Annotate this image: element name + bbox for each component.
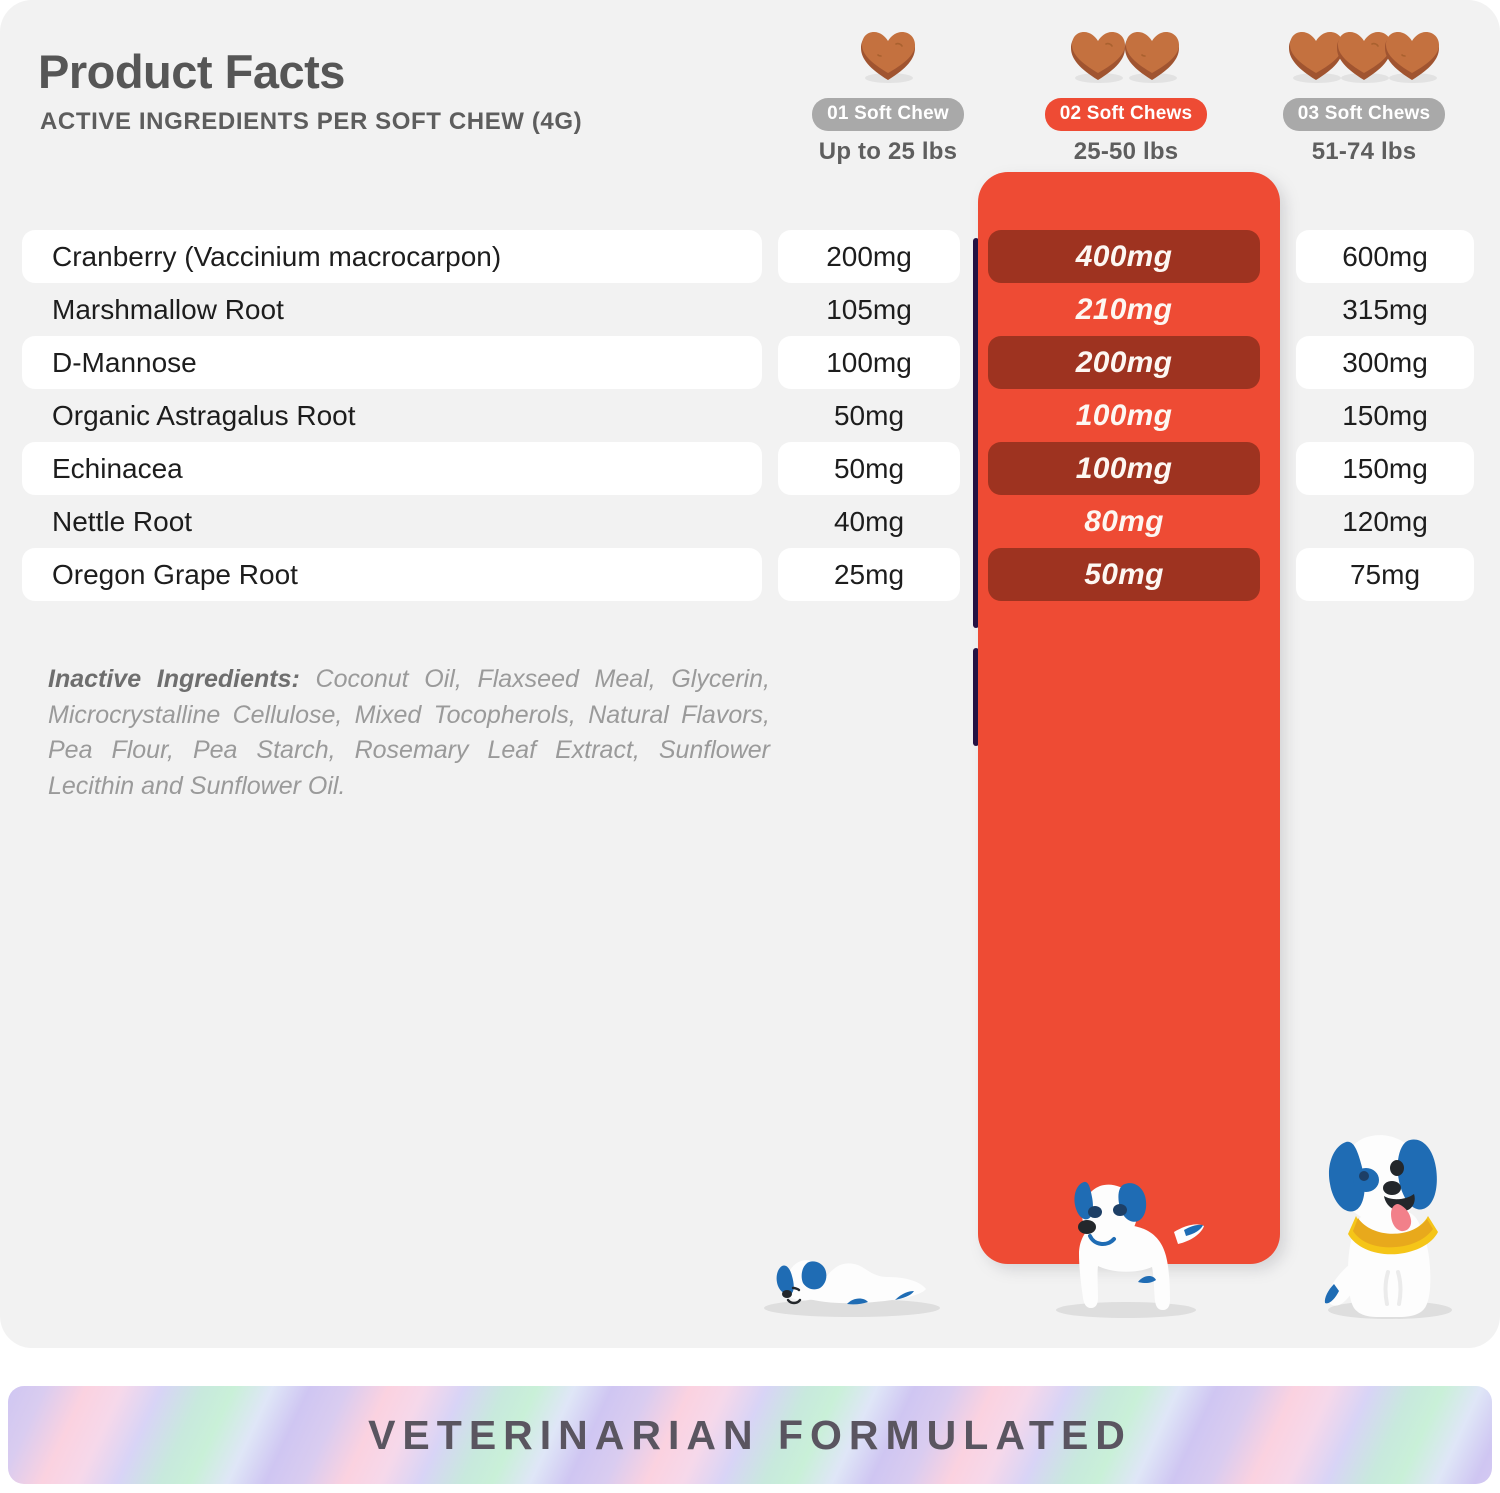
dose-value: 50mg [1084,558,1164,592]
treat-group-2 [1008,22,1244,98]
veterinarian-formulated-banner: VETERINARIAN FORMULATED [8,1386,1492,1484]
dose-badge-1: 01 Soft Chew [812,98,964,131]
table-row: Organic Astragalus Root 50mg 100mg 150mg [22,389,1474,442]
ingredient-name: D-Mannose [52,347,197,379]
dose-cell-2: 80mg [988,495,1260,548]
dose-weight-2: 25-50 lbs [1008,138,1244,166]
dose-column-header-3: 03 Soft Chews 51-74 lbs [1246,22,1482,166]
dose-cell-2: 100mg [988,389,1260,442]
dose-cell-3: 75mg [1296,548,1474,601]
dose-value: 75mg [1350,559,1420,591]
ingredient-name: Echinacea [52,453,183,485]
ingredient-name-cell: Nettle Root [22,495,762,548]
dose-cell-2: 400mg [988,230,1260,283]
dose-value: 120mg [1342,506,1428,538]
product-facts-infographic: Product Facts ACTIVE INGREDIENTS PER SOF… [0,0,1500,1493]
table-row: Marshmallow Root 105mg 210mg 315mg [22,283,1474,336]
dose-value: 150mg [1342,400,1428,432]
dose-value: 150mg [1342,453,1428,485]
dose-value: 80mg [1084,505,1164,539]
ingredient-name: Marshmallow Root [52,294,284,326]
dose-cell-3: 120mg [1296,495,1474,548]
dose-cell-3: 600mg [1296,230,1474,283]
dog-walking-icon [1040,1168,1212,1320]
heart-treat-icon [1382,28,1442,84]
dose-column-header-2: 02 Soft Chews 25-50 lbs [1008,22,1244,166]
dose-weight-1: Up to 25 lbs [770,138,1006,166]
dose-value: 40mg [834,506,904,538]
dose-cell-3: 150mg [1296,442,1474,495]
dog-lying-icon [754,1222,944,1318]
dose-value: 50mg [834,400,904,432]
dose-cell-3: 315mg [1296,283,1474,336]
footer-text: VETERINARIAN FORMULATED [8,1386,1492,1484]
dose-value: 100mg [1076,399,1173,433]
ingredients-table: Cranberry (Vaccinium macrocarpon) 200mg … [22,230,1474,601]
dose-value: 25mg [834,559,904,591]
dose-cell-2: 100mg [988,442,1260,495]
table-row: Echinacea 50mg 100mg 150mg [22,442,1474,495]
ingredient-name-cell: Marshmallow Root [22,283,762,336]
heart-treat-icon [1068,28,1128,84]
dose-cell-3: 150mg [1296,389,1474,442]
dose-value: 200mg [1076,346,1173,380]
dose-value: 600mg [1342,241,1428,273]
dose-cell-1: 200mg [778,230,960,283]
ingredient-name-cell: Echinacea [22,442,762,495]
dose-column-header-1: 01 Soft Chew Up to 25 lbs [770,22,1006,166]
dose-value: 210mg [1076,293,1173,327]
dose-cell-1: 105mg [778,283,960,336]
table-row: Nettle Root 40mg 80mg 120mg [22,495,1474,548]
dose-column-headers: 01 Soft Chew Up to 25 lbs [770,22,1482,162]
table-row: Cranberry (Vaccinium macrocarpon) 200mg … [22,230,1474,283]
page-title: Product Facts [38,44,345,99]
dose-value: 300mg [1342,347,1428,379]
page-subtitle: ACTIVE INGREDIENTS PER SOFT CHEW (4G) [40,108,582,136]
ingredient-name-cell: Organic Astragalus Root [22,389,762,442]
dose-value: 100mg [826,347,912,379]
ingredient-name: Cranberry (Vaccinium macrocarpon) [52,241,501,273]
ingredient-name-cell: Oregon Grape Root [22,548,762,601]
table-row: Oregon Grape Root 25mg 50mg 75mg [22,548,1474,601]
dose-cell-2: 50mg [988,548,1260,601]
treat-group-3 [1246,22,1482,98]
dose-cell-2: 200mg [988,336,1260,389]
heart-treat-icon [1122,28,1182,84]
heart-treat-icon [858,28,918,84]
dose-cell-3: 300mg [1296,336,1474,389]
ingredient-name: Organic Astragalus Root [52,400,356,432]
table-row: D-Mannose 100mg 200mg 300mg [22,336,1474,389]
dose-cell-1: 50mg [778,389,960,442]
dose-value: 200mg [826,241,912,273]
dose-weight-3: 51-74 lbs [1246,138,1482,166]
inactive-ingredients: Inactive Ingredients: Coconut Oil, Flaxs… [48,662,770,804]
dose-value: 315mg [1342,294,1428,326]
dose-cell-1: 40mg [778,495,960,548]
dose-cell-1: 100mg [778,336,960,389]
inactive-ingredients-label: Inactive Ingredients: [48,665,300,693]
dose-cell-2: 210mg [988,283,1260,336]
ingredient-name: Nettle Root [52,506,192,538]
dose-cell-1: 25mg [778,548,960,601]
ingredient-name: Oregon Grape Root [52,559,298,591]
dose-cell-1: 50mg [778,442,960,495]
dose-value: 400mg [1076,240,1173,274]
dose-badge-3: 03 Soft Chews [1283,98,1445,131]
ingredient-name-cell: D-Mannose [22,336,762,389]
ingredient-name-cell: Cranberry (Vaccinium macrocarpon) [22,230,762,283]
treat-group-1 [770,22,1006,98]
dose-value: 100mg [1076,452,1173,486]
dog-sitting-icon [1294,1122,1478,1322]
dose-value: 105mg [826,294,912,326]
dose-value: 50mg [834,453,904,485]
dose-badge-2: 02 Soft Chews [1045,98,1207,131]
